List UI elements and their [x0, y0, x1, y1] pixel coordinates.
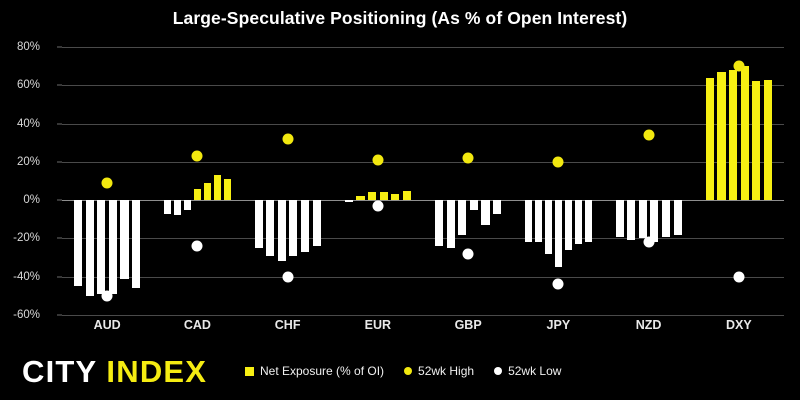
net-exposure-bar — [266, 200, 274, 256]
legend-item: 52wk High — [404, 364, 474, 378]
x-axis-category-label: EUR — [365, 318, 391, 332]
x-axis-category-label: NZD — [636, 318, 662, 332]
net-exposure-bar — [481, 200, 489, 225]
net-exposure-bar — [204, 183, 211, 200]
gridline — [62, 124, 784, 125]
net-exposure-bar — [164, 200, 171, 213]
net-exposure-bar — [752, 81, 760, 200]
52wk-low-dot — [553, 279, 564, 290]
plot-area: 80%60%40%20%0%-20%-40%-60% — [62, 47, 784, 315]
net-exposure-bar — [717, 72, 725, 200]
net-exposure-bar — [458, 200, 466, 234]
y-axis-tick-label: 20% — [0, 156, 40, 168]
net-exposure-bar — [674, 200, 682, 234]
net-exposure-bar — [214, 175, 221, 200]
gridline — [62, 47, 784, 48]
net-exposure-bar — [535, 200, 542, 242]
legend-label: 52wk High — [418, 364, 474, 378]
net-exposure-bar — [278, 200, 286, 261]
net-exposure-bar — [132, 200, 140, 288]
52wk-low-dot — [102, 290, 113, 301]
net-exposure-bar — [555, 200, 562, 267]
net-exposure-bar — [194, 189, 201, 200]
legend-label: Net Exposure (% of OI) — [260, 364, 384, 378]
y-tickmark — [57, 276, 62, 277]
net-exposure-bar — [662, 200, 670, 236]
net-exposure-bar — [616, 200, 624, 236]
legend-dot-icon — [494, 367, 502, 375]
net-exposure-bar — [447, 200, 455, 248]
legend-item: 52wk Low — [494, 364, 561, 378]
brand-logo-city: CITY — [22, 354, 97, 389]
gridline — [62, 277, 784, 278]
net-exposure-bar — [255, 200, 263, 248]
net-exposure-bar — [639, 200, 647, 238]
y-axis-tick-label: -20% — [0, 232, 40, 244]
chart-legend: Net Exposure (% of OI)52wk High52wk Low — [245, 364, 561, 378]
chart-footer: CITYINDEX Net Exposure (% of OI)52wk Hig… — [0, 352, 800, 400]
net-exposure-bar — [345, 200, 353, 202]
net-exposure-bar — [627, 200, 635, 240]
net-exposure-bar — [184, 200, 191, 210]
legend-item: Net Exposure (% of OI) — [245, 364, 384, 378]
gridline — [62, 162, 784, 163]
y-tickmark — [57, 123, 62, 124]
y-axis-tick-label: -40% — [0, 271, 40, 283]
x-axis-category-label: CHF — [275, 318, 301, 332]
52wk-high-dot — [733, 61, 744, 72]
net-exposure-bar — [741, 66, 749, 200]
net-exposure-bar — [109, 200, 117, 294]
x-axis-category-label: CAD — [184, 318, 211, 332]
net-exposure-bar — [97, 200, 105, 294]
net-exposure-bar — [86, 200, 94, 296]
y-axis-tick-label: 60% — [0, 79, 40, 91]
gridline — [62, 315, 784, 316]
net-exposure-bar — [313, 200, 321, 246]
net-exposure-bar — [565, 200, 572, 250]
y-axis-tick-label: 80% — [0, 41, 40, 53]
net-exposure-bar — [403, 191, 411, 201]
net-exposure-bar — [764, 80, 772, 201]
y-tickmark — [57, 161, 62, 162]
net-exposure-bar — [74, 200, 82, 286]
y-tickmark — [57, 47, 62, 48]
legend-dot-icon — [404, 367, 412, 375]
52wk-low-dot — [282, 271, 293, 282]
52wk-high-dot — [643, 130, 654, 141]
chart-container: Large-Speculative Positioning (As % of O… — [0, 0, 800, 400]
net-exposure-bar — [575, 200, 582, 244]
net-exposure-bar — [585, 200, 592, 242]
net-exposure-bar — [391, 194, 399, 200]
brand-logo: CITYINDEX — [22, 354, 207, 390]
y-tickmark — [57, 85, 62, 86]
legend-label: 52wk Low — [508, 364, 561, 378]
52wk-high-dot — [102, 177, 113, 188]
net-exposure-bar — [224, 179, 231, 200]
net-exposure-bar — [380, 192, 388, 200]
brand-logo-index: INDEX — [106, 354, 207, 389]
y-axis-tick-label: -60% — [0, 309, 40, 321]
legend-square-icon — [245, 367, 254, 376]
52wk-low-dot — [643, 237, 654, 248]
x-axis-category-label: DXY — [726, 318, 752, 332]
net-exposure-bar — [356, 196, 364, 200]
52wk-high-dot — [553, 156, 564, 167]
net-exposure-bar — [706, 78, 714, 201]
x-axis-category-label: JPY — [547, 318, 571, 332]
y-tickmark — [57, 238, 62, 239]
y-tickmark — [57, 200, 62, 201]
net-exposure-bar — [289, 200, 297, 256]
52wk-low-dot — [372, 200, 383, 211]
net-exposure-bar — [301, 200, 309, 252]
x-axis-category-label: GBP — [455, 318, 482, 332]
net-exposure-bar — [525, 200, 532, 242]
net-exposure-bar — [120, 200, 128, 278]
net-exposure-bar — [368, 192, 376, 200]
52wk-low-dot — [463, 248, 474, 259]
y-tickmark — [57, 315, 62, 316]
net-exposure-bar — [470, 200, 478, 210]
gridline — [62, 238, 784, 239]
net-exposure-bar — [729, 70, 737, 200]
net-exposure-bar — [493, 200, 501, 213]
52wk-high-dot — [372, 154, 383, 165]
52wk-high-dot — [192, 151, 203, 162]
52wk-low-dot — [733, 271, 744, 282]
net-exposure-bar — [650, 200, 658, 242]
chart-title: Large-Speculative Positioning (As % of O… — [0, 8, 800, 29]
52wk-high-dot — [463, 153, 474, 164]
y-axis-tick-label: 0% — [0, 194, 40, 206]
category-axis: AUDCADCHFEURGBPJPYNZDDXY — [62, 318, 784, 340]
52wk-low-dot — [192, 241, 203, 252]
52wk-high-dot — [282, 133, 293, 144]
gridline — [62, 85, 784, 86]
net-exposure-bar — [545, 200, 552, 254]
net-exposure-bar — [174, 200, 181, 215]
y-axis-tick-label: 40% — [0, 118, 40, 130]
net-exposure-bar — [435, 200, 443, 246]
x-axis-category-label: AUD — [94, 318, 121, 332]
